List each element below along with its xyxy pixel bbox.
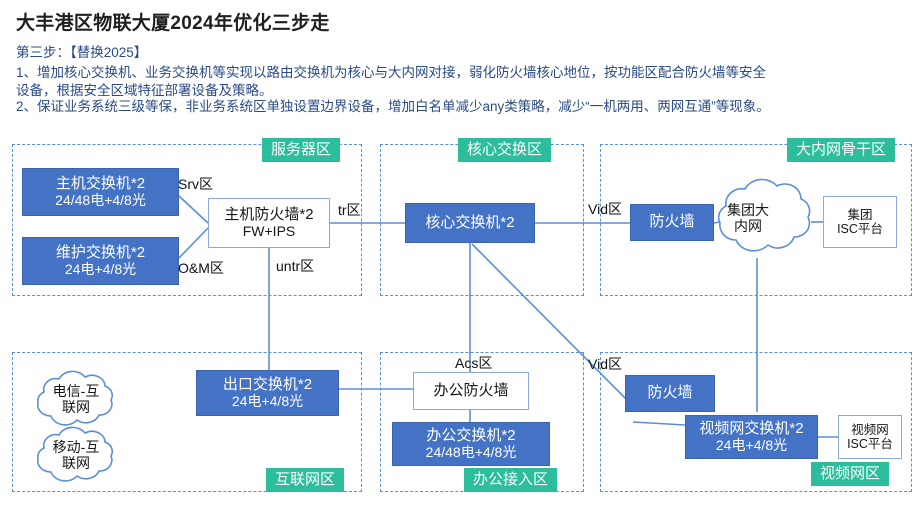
exit-switch-line1: 出口交换机*2 xyxy=(223,377,312,394)
office-switch-line2: 24/48电+4/8光 xyxy=(426,445,517,461)
node-host-switch[interactable]: 主机交换机*2 24/48电+4/8光 xyxy=(22,168,179,216)
node-om-switch[interactable]: 维护交换机*2 24电+4/8光 xyxy=(22,237,179,285)
host-switch-line1: 主机交换机*2 xyxy=(56,176,145,193)
zone-label-backbone: 大内网骨干区 xyxy=(787,138,895,162)
host-firewall-line2: FW+IPS xyxy=(243,224,296,240)
group-intranet-line1: 集团大 xyxy=(727,202,769,218)
mobile-internet-label: 移动-互 联网 xyxy=(26,428,126,482)
video-switch-line2: 24电+4/8光 xyxy=(716,438,787,454)
zone-label-internet: 互联网区 xyxy=(266,468,344,492)
node-core-switch[interactable]: 核心交换机*2 xyxy=(405,203,535,243)
om-switch-line2: 24电+4/8光 xyxy=(65,262,136,278)
node-video-firewall[interactable]: 防火墙 xyxy=(625,375,715,412)
zone-label-video: 视频网区 xyxy=(811,462,889,486)
edge-label-om: O&M区 xyxy=(178,258,224,278)
edge-label-acs: Acs区 xyxy=(455,353,492,373)
edge-label-tr: tr区 xyxy=(338,200,361,220)
video-firewall-line1: 防火墙 xyxy=(647,385,692,402)
video-switch-line1: 视频网交换机*2 xyxy=(699,421,803,438)
edge-label-untr: untr区 xyxy=(276,256,314,276)
video-isc-line2: ISC平台 xyxy=(847,437,893,451)
node-office-switch[interactable]: 办公交换机*2 24/48电+4/8光 xyxy=(392,422,550,466)
telecom-cloud-line1: 电信-互 xyxy=(53,383,100,399)
edge-label-vid-top: Vid区 xyxy=(588,199,622,219)
video-isc-line1: 视频网 xyxy=(851,423,889,437)
node-exit-switch[interactable]: 出口交换机*2 24电+4/8光 xyxy=(196,370,339,416)
group-isc-line2: ISC平台 xyxy=(837,222,883,236)
zone-label-office: 办公接入区 xyxy=(464,468,557,492)
zone-label-core: 核心交换区 xyxy=(458,138,551,162)
mobile-cloud-line1: 移动-互 xyxy=(53,439,100,455)
zone-label-server: 服务器区 xyxy=(262,138,340,162)
telecom-cloud-line2: 联网 xyxy=(62,399,90,415)
node-group-isc-platform[interactable]: 集团 ISC平台 xyxy=(823,196,897,248)
node-video-isc-platform[interactable]: 视频网 ISC平台 xyxy=(838,415,902,459)
node-backbone-firewall[interactable]: 防火墙 xyxy=(630,204,714,241)
telecom-internet-label: 电信-互 联网 xyxy=(26,372,126,426)
om-switch-line1: 维护交换机*2 xyxy=(56,245,145,262)
edge-label-vid-bottom: Vid区 xyxy=(588,354,622,374)
exit-switch-line2: 24电+4/8光 xyxy=(232,394,303,410)
node-video-switch[interactable]: 视频网交换机*2 24电+4/8光 xyxy=(685,415,818,459)
group-intranet-line2: 内网 xyxy=(734,218,762,234)
host-firewall-line1: 主机防火墙*2 xyxy=(224,207,313,224)
backbone-firewall-line1: 防火墙 xyxy=(649,214,694,231)
core-switch-line1: 核心交换机*2 xyxy=(425,215,514,232)
edge-label-srv: Srv区 xyxy=(178,174,213,194)
host-switch-line2: 24/48电+4/8光 xyxy=(55,193,146,209)
mobile-cloud-line2: 联网 xyxy=(62,455,90,471)
office-switch-line1: 办公交换机*2 xyxy=(426,428,515,445)
node-office-firewall[interactable]: 办公防火墙 xyxy=(413,372,529,410)
group-intranet-label: 集团大 内网 xyxy=(700,180,796,256)
group-isc-line1: 集团 xyxy=(847,208,872,222)
node-host-firewall[interactable]: 主机防火墙*2 FW+IPS xyxy=(208,198,330,248)
office-firewall-line1: 办公防火墙 xyxy=(433,383,508,400)
